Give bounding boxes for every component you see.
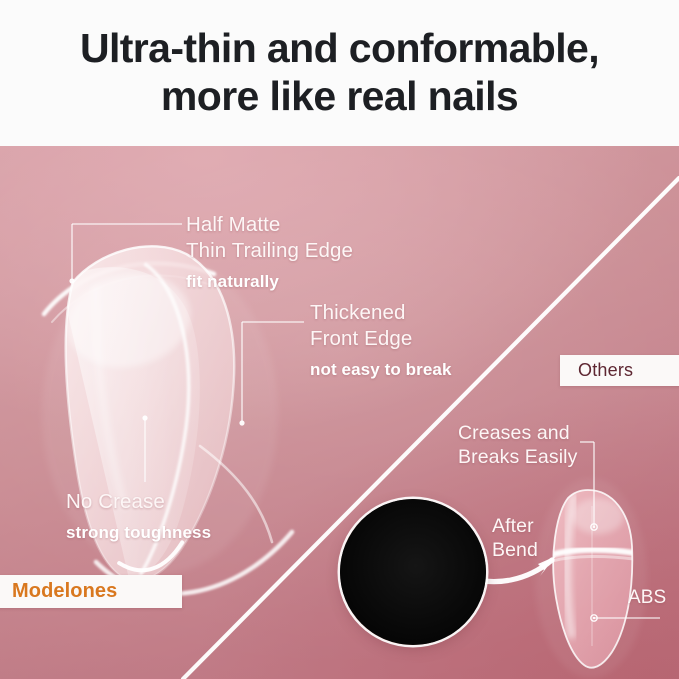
headline-line-2: more like real nails [161, 73, 518, 121]
headline-banner: Ultra-thin and conformable, more like re… [0, 0, 679, 146]
annotation-no-crease: No Crease strong toughness [66, 489, 211, 544]
brand-badge-others-label: Others [578, 360, 633, 381]
annotation-half-matte-subtitle: fit naturally [186, 271, 353, 293]
annotation-creases-title-2: Breaks Easily [458, 446, 577, 470]
annotation-no-crease-subtitle: strong toughness [66, 522, 211, 544]
annotation-abs-title-1: ABS [628, 586, 666, 610]
annotation-creases-and-breaks: Creases and Breaks Easily [458, 422, 577, 470]
annotation-abs-material: ABS [628, 586, 666, 610]
annotation-thickened-title-1: Thickened [310, 300, 452, 326]
annotation-after-bend-title-1: After [492, 514, 538, 538]
annotation-thickened-title-2: Front Edge [310, 326, 452, 352]
annotation-after-bend: After Bend [492, 514, 538, 562]
headline-line-1: Ultra-thin and conformable, [80, 25, 599, 73]
brand-badge-modelones: Modelones [0, 575, 182, 608]
comparison-panel: Modelones Others Half Matte Thin Trailin… [0, 146, 679, 679]
brand-badge-others: Others [560, 355, 679, 386]
annotation-half-matte: Half Matte Thin Trailing Edge fit natura… [186, 212, 353, 294]
product-feature-graphic: Ultra-thin and conformable, more like re… [0, 0, 679, 679]
annotation-after-bend-title-2: Bend [492, 538, 538, 562]
annotation-no-crease-title-1: No Crease [66, 489, 211, 515]
annotation-thickened-subtitle: not easy to break [310, 359, 452, 381]
bending-demo-photo-inset [340, 499, 486, 645]
annotation-half-matte-title-2: Thin Trailing Edge [186, 238, 353, 264]
annotation-half-matte-title-1: Half Matte [186, 212, 353, 238]
annotation-creases-title-1: Creases and [458, 422, 577, 446]
annotation-thickened-front-edge: Thickened Front Edge not easy to break [310, 300, 452, 382]
inset-background [340, 499, 486, 645]
brand-badge-modelones-label: Modelones [12, 580, 117, 603]
